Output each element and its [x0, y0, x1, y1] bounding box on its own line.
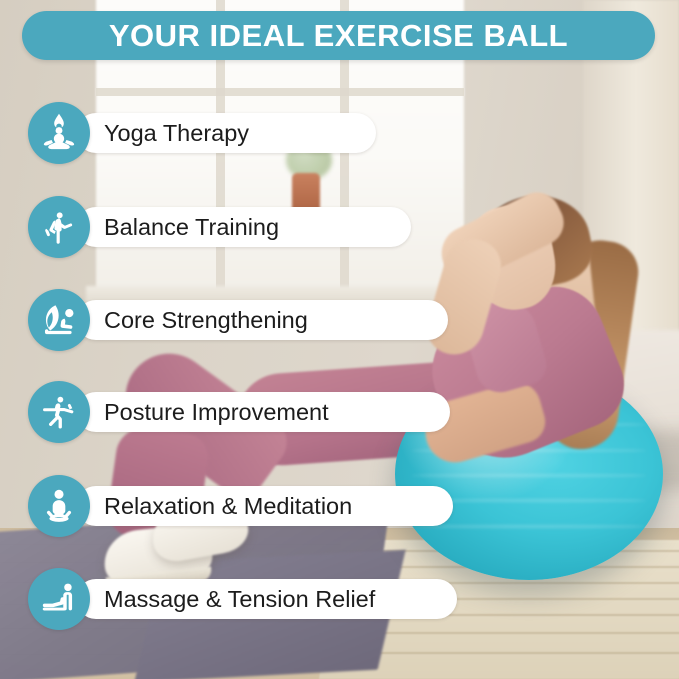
yoga-lotus-prayer-icon — [28, 102, 90, 164]
feature-row[interactable]: Massage & Tension Relief — [28, 568, 90, 630]
feature-row[interactable]: Core Strengthening — [28, 289, 90, 351]
feature-row[interactable]: Yoga Therapy — [28, 102, 90, 164]
feature-row[interactable]: Balance Training — [28, 196, 90, 258]
window-mullion-horizontal — [96, 88, 464, 96]
title-banner: YOUR IDEAL EXERCISE BALL — [22, 11, 655, 60]
warrior-pose-icon — [28, 381, 90, 443]
dancer-balance-pose-icon — [28, 196, 90, 258]
feature-label: Core Strengthening — [104, 307, 308, 334]
feature-label: Yoga Therapy — [104, 120, 249, 147]
feature-label-pill: Core Strengthening — [76, 300, 448, 340]
feature-label: Balance Training — [104, 214, 279, 241]
page-title: YOUR IDEAL EXERCISE BALL — [109, 18, 568, 54]
product-infographic: YOUR IDEAL EXERCISE BALL Yoga Therapy Ba… — [0, 0, 679, 679]
feature-row[interactable]: Posture Improvement — [28, 381, 90, 443]
feature-label: Posture Improvement — [104, 399, 329, 426]
feature-label-pill: Relaxation & Meditation — [76, 486, 453, 526]
feature-label-pill: Massage & Tension Relief — [76, 579, 457, 619]
feature-row[interactable]: Relaxation & Meditation — [28, 475, 90, 537]
meditation-seated-icon — [28, 475, 90, 537]
feature-label-pill: Posture Improvement — [76, 392, 450, 432]
sit-up-crunch-icon — [28, 289, 90, 351]
feature-label-pill: Balance Training — [76, 207, 411, 247]
feature-label-pill: Yoga Therapy — [76, 113, 376, 153]
feature-label: Relaxation & Meditation — [104, 493, 352, 520]
feature-label: Massage & Tension Relief — [104, 586, 375, 613]
massage-therapy-icon — [28, 568, 90, 630]
